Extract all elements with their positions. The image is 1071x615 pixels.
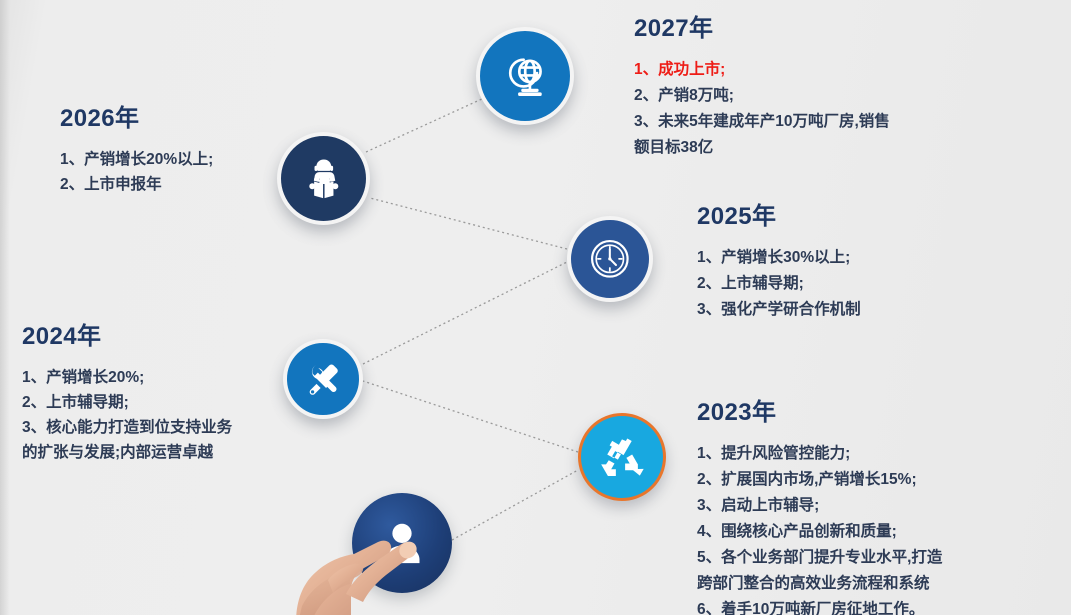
milestone-block-2027: 2027年 1、成功上市; 2、产销8万吨; 3、未来5年建成年产10万吨厂房,… [634, 8, 1054, 161]
milestone-line: 2、上市辅导期; [22, 390, 322, 415]
milestone-title-2026: 2026年 [60, 98, 360, 133]
connector-2023-2024 [363, 381, 578, 452]
milestone-node-2024[interactable] [283, 339, 363, 419]
milestone-title-2025: 2025年 [697, 196, 1037, 231]
milestone-lines-2024: 1、产销增长20%; 2、上市辅导期; 3、核心能力打造到位支持业务 的扩张与发… [22, 365, 322, 465]
milestone-node-2026[interactable] [277, 132, 370, 225]
milestone-line: 3、启动上市辅导; [697, 493, 1067, 519]
milestone-line: 3、核心能力打造到位支持业务 [22, 415, 322, 440]
recycle-icon [599, 434, 645, 480]
milestone-line: 的扩张与发展;内部运营卓越 [22, 440, 322, 465]
milestone-line: 1、产销增长20%; [22, 365, 322, 390]
milestone-line: 1、产销增长30%以上; [697, 245, 1037, 271]
milestone-line: 2、扩展国内市场,产销增长15%; [697, 467, 1067, 493]
milestone-line: 额目标38亿 [634, 135, 1054, 161]
milestone-line: 3、强化产学研合作机制 [697, 297, 1037, 323]
milestone-block-2023: 2023年 1、提升风险管控能力; 2、扩展国内市场,产销增长15%; 3、启动… [697, 392, 1067, 615]
connector-2026-2027 [366, 98, 484, 152]
milestone-block-2025: 2025年 1、产销增长30%以上; 2、上市辅导期; 3、强化产学研合作机制 [697, 196, 1037, 323]
milestone-lines-2025: 1、产销增长30%以上; 2、上市辅导期; 3、强化产学研合作机制 [697, 245, 1037, 323]
milestone-node-2023[interactable] [578, 413, 666, 501]
milestone-node-2027[interactable] [476, 27, 574, 125]
milestone-title-2024: 2024年 [22, 316, 322, 351]
connector-2025-2026 [370, 198, 567, 249]
milestone-lines-2023: 1、提升风险管控能力; 2、扩展国内市场,产销增长15%; 3、启动上市辅导; … [697, 441, 1067, 615]
roadmap-infographic: 2027年 1、成功上市; 2、产销8万吨; 3、未来5年建成年产10万吨厂房,… [0, 0, 1071, 615]
reading-person-icon [300, 155, 348, 203]
milestone-line: 跨部门整合的高效业务流程和系统 [697, 571, 1067, 597]
milestone-lines-2027: 1、成功上市; 2、产销8万吨; 3、未来5年建成年产10万吨厂房,销售 额目标… [634, 57, 1054, 161]
globe-icon [500, 51, 550, 101]
milestone-line: 2、上市辅导期; [697, 271, 1037, 297]
tools-icon [303, 359, 343, 399]
hand-pointing-icon [294, 498, 484, 615]
milestone-line: 3、未来5年建成年产10万吨厂房,销售 [634, 109, 1054, 135]
clock-icon [588, 237, 632, 281]
milestone-line: 6、着手10万吨新厂房征地工作。 [697, 597, 1067, 615]
milestone-line: 4、围绕核心产品创新和质量; [697, 519, 1067, 545]
milestone-line: 2、产销8万吨; [634, 83, 1054, 109]
milestone-title-2027: 2027年 [634, 8, 1054, 43]
milestone-line: 1、成功上市; [634, 57, 1054, 83]
milestone-node-2025[interactable] [567, 216, 653, 302]
milestone-line: 5、各个业务部门提升专业水平,打造 [697, 545, 1067, 571]
milestone-title-2023: 2023年 [697, 392, 1067, 427]
milestone-line: 1、提升风险管控能力; [697, 441, 1067, 467]
connector-2024-2025 [363, 262, 567, 364]
milestone-block-2024: 2024年 1、产销增长20%; 2、上市辅导期; 3、核心能力打造到位支持业务… [22, 316, 322, 465]
